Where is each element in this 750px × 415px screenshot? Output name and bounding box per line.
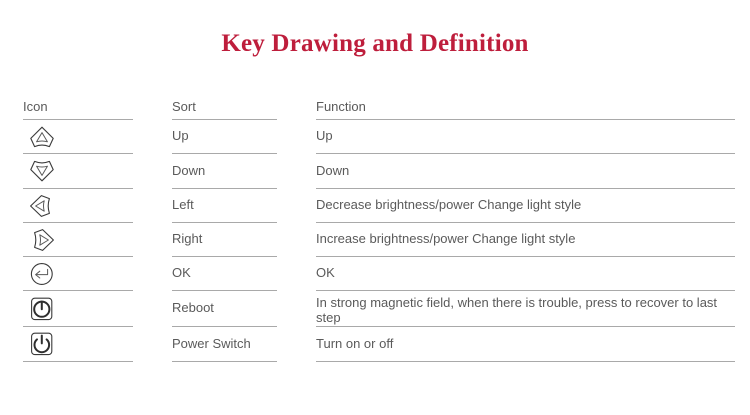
reboot-icon [28,296,56,322]
table-row [23,120,133,154]
table-row [23,223,133,257]
sort-cell: Left [172,189,277,223]
sort-cell: Right [172,223,277,257]
page-title: Key Drawing and Definition [0,30,750,58]
function-column: Function Up Down Decrease brightness/pow… [316,98,735,362]
function-cell: Turn on or off [316,327,735,362]
icon-column: Icon [23,98,133,362]
function-cell: OK [316,257,735,291]
table-row [23,291,133,327]
arrow-left-icon [28,193,56,219]
function-cell: Up [316,120,735,154]
table-row [23,327,133,362]
sort-cell: Down [172,154,277,189]
function-cell: Increase brightness/power Change light s… [316,223,735,257]
table-row [23,257,133,291]
sort-cell: Power Switch [172,327,277,362]
column-header-function: Function [316,98,735,120]
arrow-up-icon [28,124,56,150]
function-cell: In strong magnetic field, when there is … [316,291,735,327]
sort-cell: OK [172,257,277,291]
enter-ok-icon [28,261,56,287]
table-row [23,189,133,223]
table-row [23,154,133,189]
sort-column: Sort Up Down Left Right OK Reboot Power … [172,98,277,362]
sort-cell: Reboot [172,291,277,327]
arrow-down-icon [28,158,56,184]
function-cell: Down [316,154,735,189]
power-switch-icon [28,331,56,357]
function-cell: Decrease brightness/power Change light s… [316,189,735,223]
sort-cell: Up [172,120,277,154]
arrow-right-icon [28,227,56,253]
column-header-sort: Sort [172,98,277,120]
column-header-icon: Icon [23,98,133,120]
